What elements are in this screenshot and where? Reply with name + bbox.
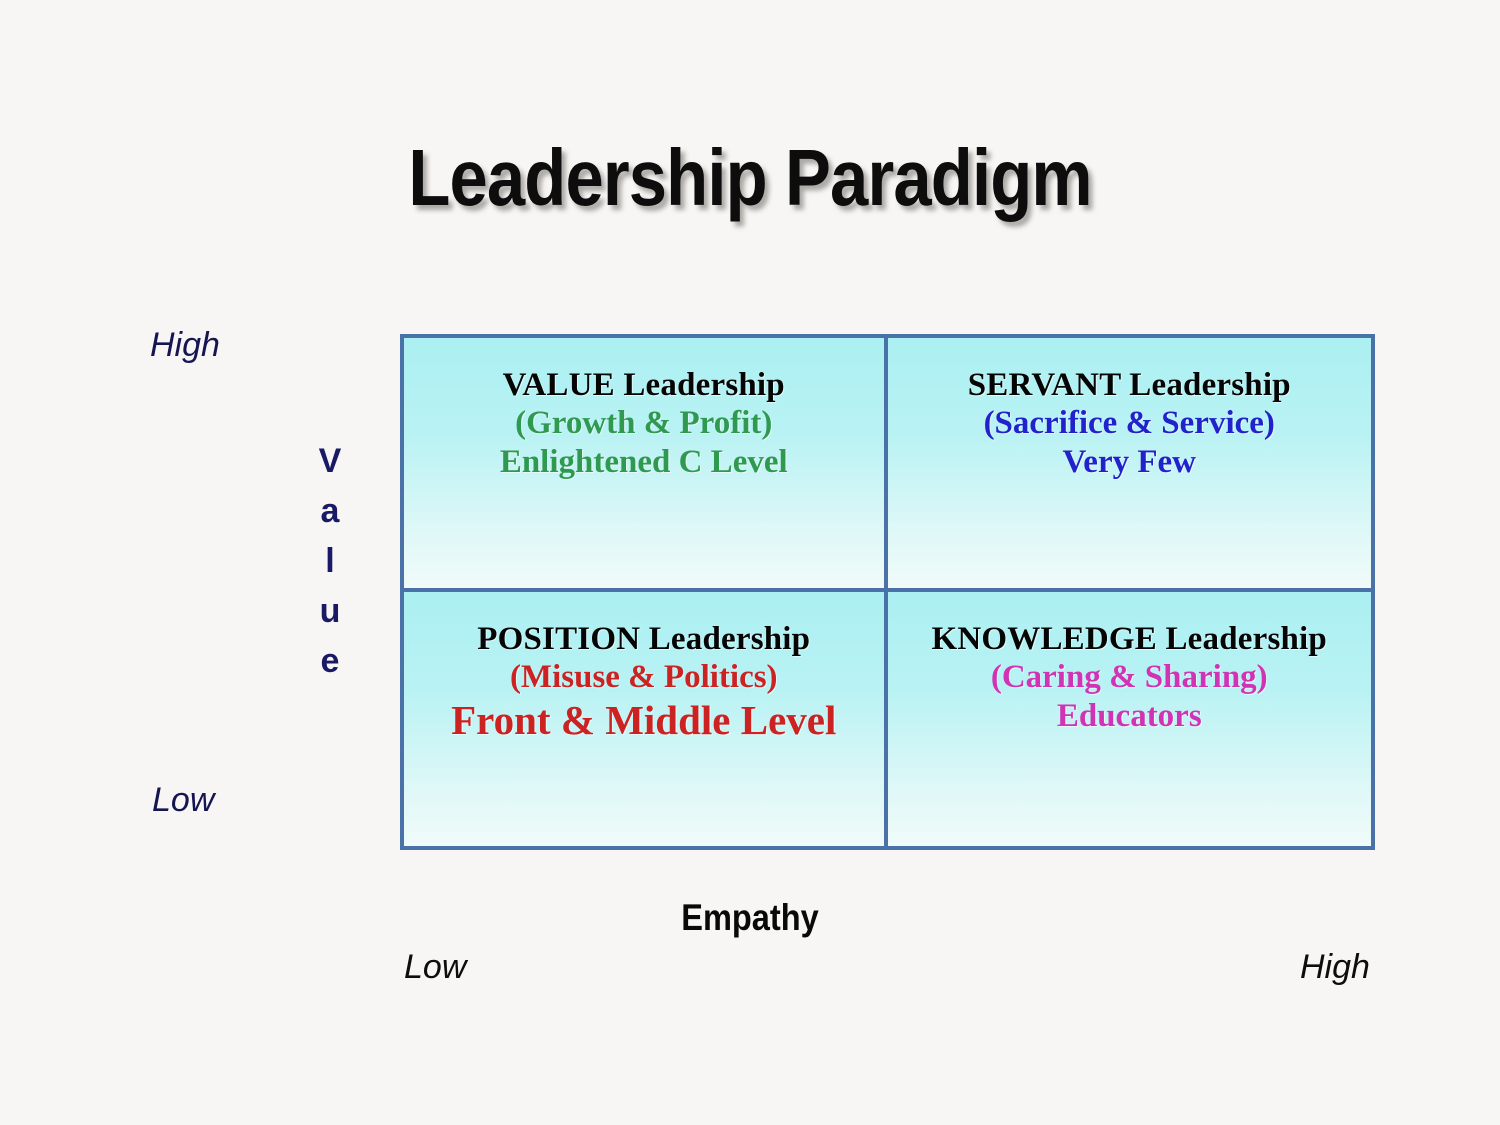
quadrant-footnote: Educators xyxy=(888,697,1372,735)
value-axis-high-label: High xyxy=(150,326,220,365)
empathy-axis-high-label: High xyxy=(1300,948,1370,987)
quadrant-footnote: Front & Middle Level xyxy=(404,697,884,745)
quadrant-footnote: Enlightened C Level xyxy=(404,443,884,481)
quadrant-servant-leadership[interactable]: SERVANT Leadership (Sacrifice & Service)… xyxy=(888,338,1372,592)
value-axis-letter-1: a xyxy=(310,486,350,536)
value-axis-letter-0: V xyxy=(310,436,350,486)
value-axis-letter-3: u xyxy=(310,586,350,636)
quadrant-subtitle: (Misuse & Politics) xyxy=(404,658,884,696)
quadrant-heading: SERVANT Leadership xyxy=(888,366,1372,404)
slide-canvas: Leadership Paradigm High Low V a l u e V… xyxy=(0,0,1500,1125)
quadrant-position-leadership[interactable]: POSITION Leadership (Misuse & Politics) … xyxy=(404,592,888,846)
quadrant-subtitle: (Caring & Sharing) xyxy=(888,658,1372,696)
quadrant-heading: VALUE Leadership xyxy=(404,366,884,404)
quadrant-subtitle: (Sacrifice & Service) xyxy=(888,404,1372,442)
quadrant-heading: KNOWLEDGE Leadership xyxy=(888,620,1372,658)
page-title: Leadership Paradigm xyxy=(105,132,1395,224)
value-axis-letter-2: l xyxy=(310,536,350,586)
quadrant-subtitle: (Growth & Profit) xyxy=(404,404,884,442)
empathy-axis-low-label: Low xyxy=(404,948,466,987)
value-axis-title: V a l u e xyxy=(310,436,350,686)
quadrant-footnote: Very Few xyxy=(888,443,1372,481)
quadrant-value-leadership[interactable]: VALUE Leadership (Growth & Profit) Enlig… xyxy=(404,338,888,592)
empathy-axis-title: Empathy xyxy=(90,897,1410,939)
quadrant-heading: POSITION Leadership xyxy=(404,620,884,658)
value-axis-letter-4: e xyxy=(310,636,350,686)
quadrant-knowledge-leadership[interactable]: KNOWLEDGE Leadership (Caring & Sharing) … xyxy=(888,592,1372,846)
value-axis-low-label: Low xyxy=(152,781,214,820)
leadership-quadrant-matrix: VALUE Leadership (Growth & Profit) Enlig… xyxy=(400,334,1375,850)
